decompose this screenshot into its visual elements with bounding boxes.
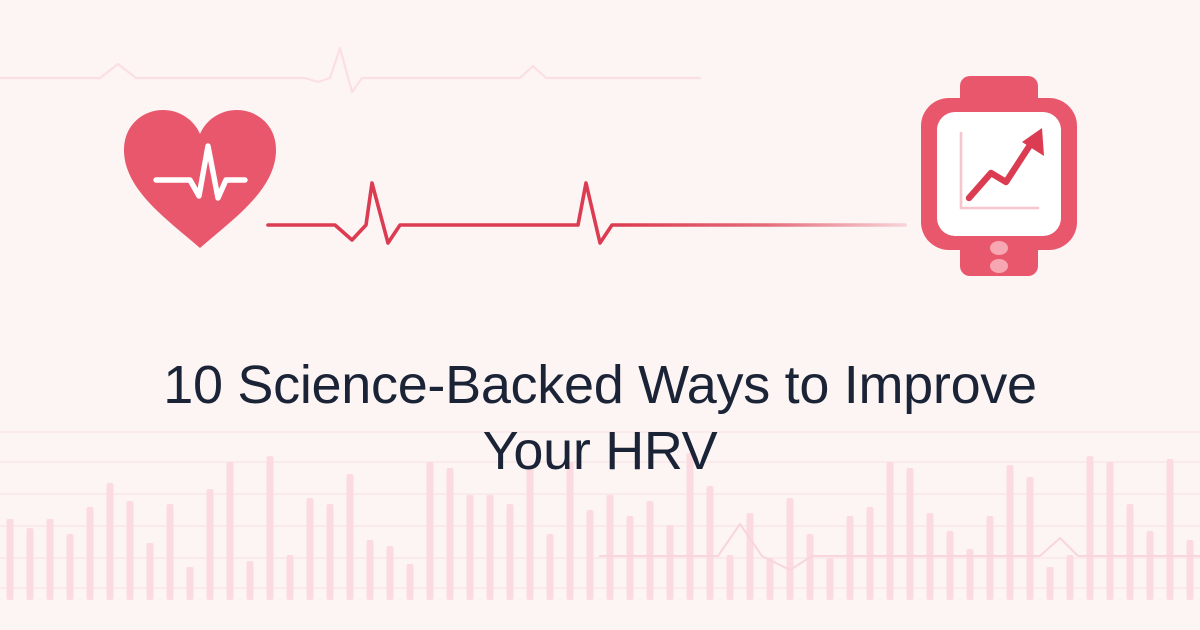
bar-chart-bar xyxy=(1127,504,1134,600)
hero-graphic xyxy=(0,0,1200,310)
bar-chart-bar xyxy=(7,519,14,600)
page-title: 10 Science-Backed Ways to Improve Your H… xyxy=(100,352,1100,484)
bar-chart-bar xyxy=(467,495,474,600)
bar-chart-bar xyxy=(167,504,174,600)
bar-chart-bar xyxy=(627,516,634,600)
bar-chart-bar xyxy=(867,507,874,600)
bar-chart-bar xyxy=(1187,540,1194,600)
bar-chart-bar xyxy=(947,531,954,600)
bar-chart-bar xyxy=(1047,567,1054,600)
bar-chart-bar xyxy=(927,513,934,600)
bar-chart-bar xyxy=(127,501,134,600)
bar-chart-bar xyxy=(387,546,394,600)
bar-chart-bar xyxy=(827,558,834,600)
bar-chart-bar xyxy=(67,534,74,600)
bar-chart-bar xyxy=(1027,477,1034,600)
bar-chart-bar xyxy=(327,504,334,600)
bar-chart-bar xyxy=(307,498,314,600)
bar-chart-bar xyxy=(907,468,914,600)
ecg-waveform-icon xyxy=(268,183,905,243)
bar-chart-bar xyxy=(1107,462,1114,600)
bar-chart-bar xyxy=(347,474,354,600)
smartwatch-icon xyxy=(921,76,1077,276)
bar-chart-bar xyxy=(207,489,214,600)
bar-chart-bar xyxy=(247,561,254,600)
social-card: 10 Science-Backed Ways to Improve Your H… xyxy=(0,0,1200,630)
bar-chart-bar xyxy=(107,483,114,600)
bar-chart-bar xyxy=(27,528,34,600)
bar-chart-bar xyxy=(527,465,534,600)
bar-chart-bar xyxy=(187,567,194,600)
bar-chart-bar xyxy=(707,486,714,600)
bar-chart-bar xyxy=(587,510,594,600)
bar-chart-bar xyxy=(747,513,754,600)
bar-chart-bar xyxy=(47,519,54,600)
title-block: 10 Science-Backed Ways to Improve Your H… xyxy=(100,352,1100,484)
bar-chart-bar xyxy=(667,525,674,600)
bar-chart-bar xyxy=(287,555,294,600)
bar-chart-bar xyxy=(407,564,414,600)
bar-chart-bar xyxy=(507,504,514,600)
bar-chart-bar xyxy=(367,540,374,600)
bar-chart-bar xyxy=(487,495,494,600)
bar-chart-bar xyxy=(647,501,654,600)
bar-chart-bar xyxy=(147,543,154,600)
bar-chart-bar xyxy=(1147,531,1154,600)
bar-chart-bar xyxy=(787,498,794,600)
bar-chart-bar xyxy=(727,555,734,600)
bar-chart-bar xyxy=(847,516,854,600)
bar-chart-bar xyxy=(1007,465,1014,600)
bar-chart-bar xyxy=(967,549,974,600)
bar-chart-bar xyxy=(87,507,94,600)
heart-pulse-icon xyxy=(124,110,276,248)
bar-chart-bar xyxy=(767,558,774,600)
bar-chart-bar xyxy=(987,516,994,600)
bar-chart-bar xyxy=(1067,555,1074,600)
bar-chart-bar xyxy=(607,495,614,600)
bar-chart-bar xyxy=(807,534,814,600)
bar-chart-bar xyxy=(547,534,554,600)
bar-chart-bar xyxy=(1167,459,1174,600)
bar-chart-bar xyxy=(447,468,454,600)
